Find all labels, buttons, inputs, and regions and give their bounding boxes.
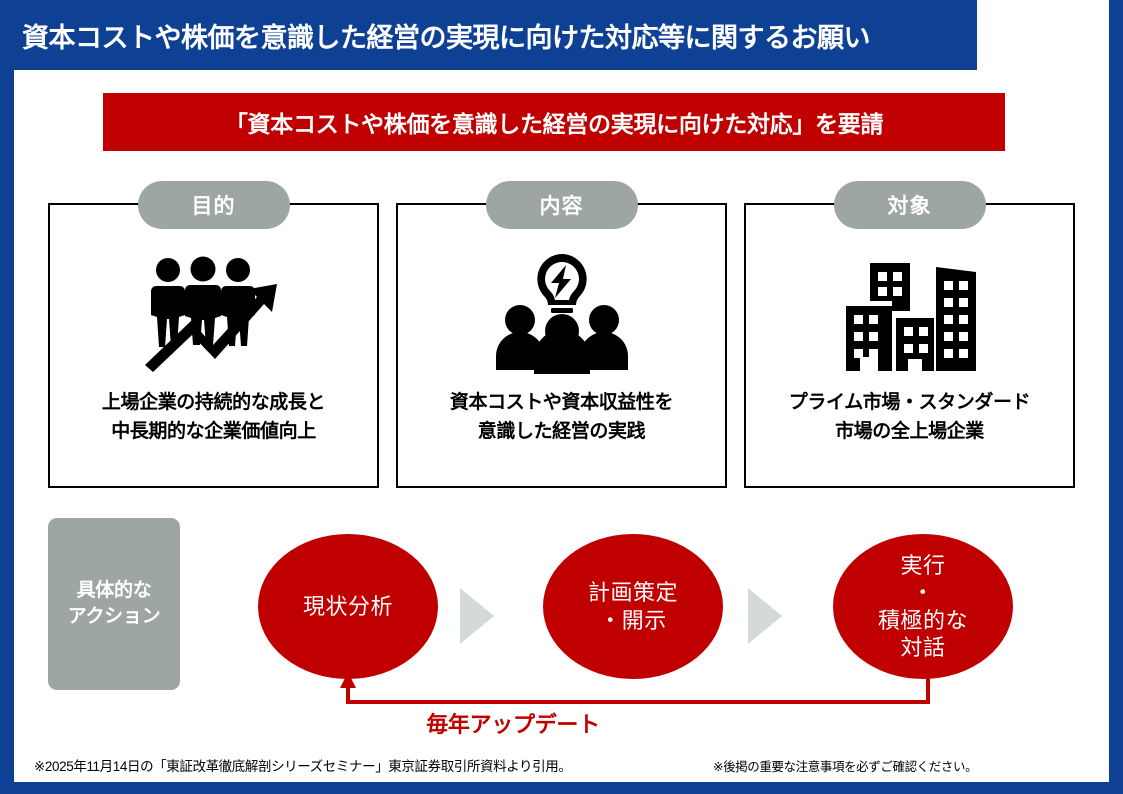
card-pill-label: 対象 — [888, 190, 932, 220]
flow-step-execute[interactable]: 実行 ・ 積極的な 対話 — [833, 534, 1013, 679]
action-flow-row: 具体的な アクション 現状分析 計画策定 ・開示 実行 ・ 積極的な 対話 — [48, 518, 1075, 693]
flow-step-line: 計画策定 — [588, 579, 678, 607]
slide-root: 資本コストや株価を意識した経営の実現に向けた対応等に関するお願い 「資本コストや… — [0, 0, 1123, 794]
footnote-source: ※2025年11月14日の「東証改革徹底解剖シリーズセミナー」東京証券取引所資料… — [34, 755, 571, 775]
flow-step-analysis[interactable]: 現状分析 — [258, 534, 438, 679]
card-text-line: 市場の全上場企業 — [789, 417, 1030, 446]
info-card-target: 対象 — [744, 203, 1075, 488]
card-text-content: 資本コストや資本収益性を 意識した経営の実践 — [450, 388, 673, 447]
flow-step-line: 現状分析 — [303, 593, 393, 621]
buildings-icon — [840, 250, 980, 376]
info-cards-row: 目的 — [48, 203, 1075, 488]
request-banner-label: 「資本コストや株価を意識した経営の実現に向けた対応」を要請 — [225, 105, 883, 139]
card-text-line: 資本コストや資本収益性を — [450, 388, 673, 417]
info-card-content: 内容 — [396, 203, 727, 488]
page-title: 資本コストや株価を意識した経営の実現に向けた対応等に関するお願い — [22, 16, 870, 55]
request-banner: 「資本コストや株価を意識した経営の実現に向けた対応」を要請 — [103, 93, 1005, 151]
card-pill-target: 対象 — [834, 181, 986, 229]
card-pill-purpose: 目的 — [138, 181, 290, 229]
loop-arrow-icon — [48, 672, 1075, 710]
card-text-purpose: 上場企業の持続的な成長と 中長期的な企業価値向上 — [102, 388, 325, 447]
frame-border-bottom — [0, 782, 1123, 794]
info-card-purpose: 目的 — [48, 203, 379, 488]
card-text-line: 上場企業の持続的な成長と — [102, 388, 325, 417]
card-pill-content: 内容 — [486, 181, 638, 229]
lightbulb-people-icon — [487, 250, 637, 376]
flow-arrow-2-icon — [748, 588, 782, 644]
flow-step-line: ・開示 — [599, 607, 667, 635]
annual-update-loop: 毎年アップデート — [48, 672, 1075, 732]
card-text-target: プライム市場・スタンダード 市場の全上場企業 — [789, 388, 1030, 447]
action-label-line: 具体的な — [77, 578, 152, 604]
loop-label: 毎年アップデート — [48, 707, 978, 739]
action-label-line: アクション — [68, 604, 161, 630]
slide-title-bar: 資本コストや株価を意識した経営の実現に向けた対応等に関するお願い — [0, 0, 977, 70]
flow-step-line: 実行 — [900, 552, 945, 580]
card-text-line: プライム市場・スタンダード — [789, 388, 1030, 417]
frame-border-right — [1109, 0, 1123, 794]
flow-step-line: 対話 — [900, 634, 945, 662]
card-text-line: 意識した経営の実践 — [450, 417, 673, 446]
card-text-line: 中長期的な企業価値向上 — [102, 417, 325, 446]
card-pill-label: 内容 — [540, 190, 584, 220]
card-pill-label: 目的 — [192, 190, 236, 220]
action-label-box: 具体的な アクション — [48, 518, 180, 690]
footnote-disclaimer: ※後掲の重要な注意事項を必ずご確認ください。 — [713, 756, 977, 775]
flow-arrow-1-icon — [460, 588, 494, 644]
flow-step-plan[interactable]: 計画策定 ・開示 — [543, 534, 723, 679]
people-growth-arrow-icon — [139, 250, 289, 376]
flow-step-line: ・ — [912, 579, 935, 607]
frame-border-left — [0, 0, 14, 794]
flow-step-line: 積極的な — [878, 607, 968, 635]
